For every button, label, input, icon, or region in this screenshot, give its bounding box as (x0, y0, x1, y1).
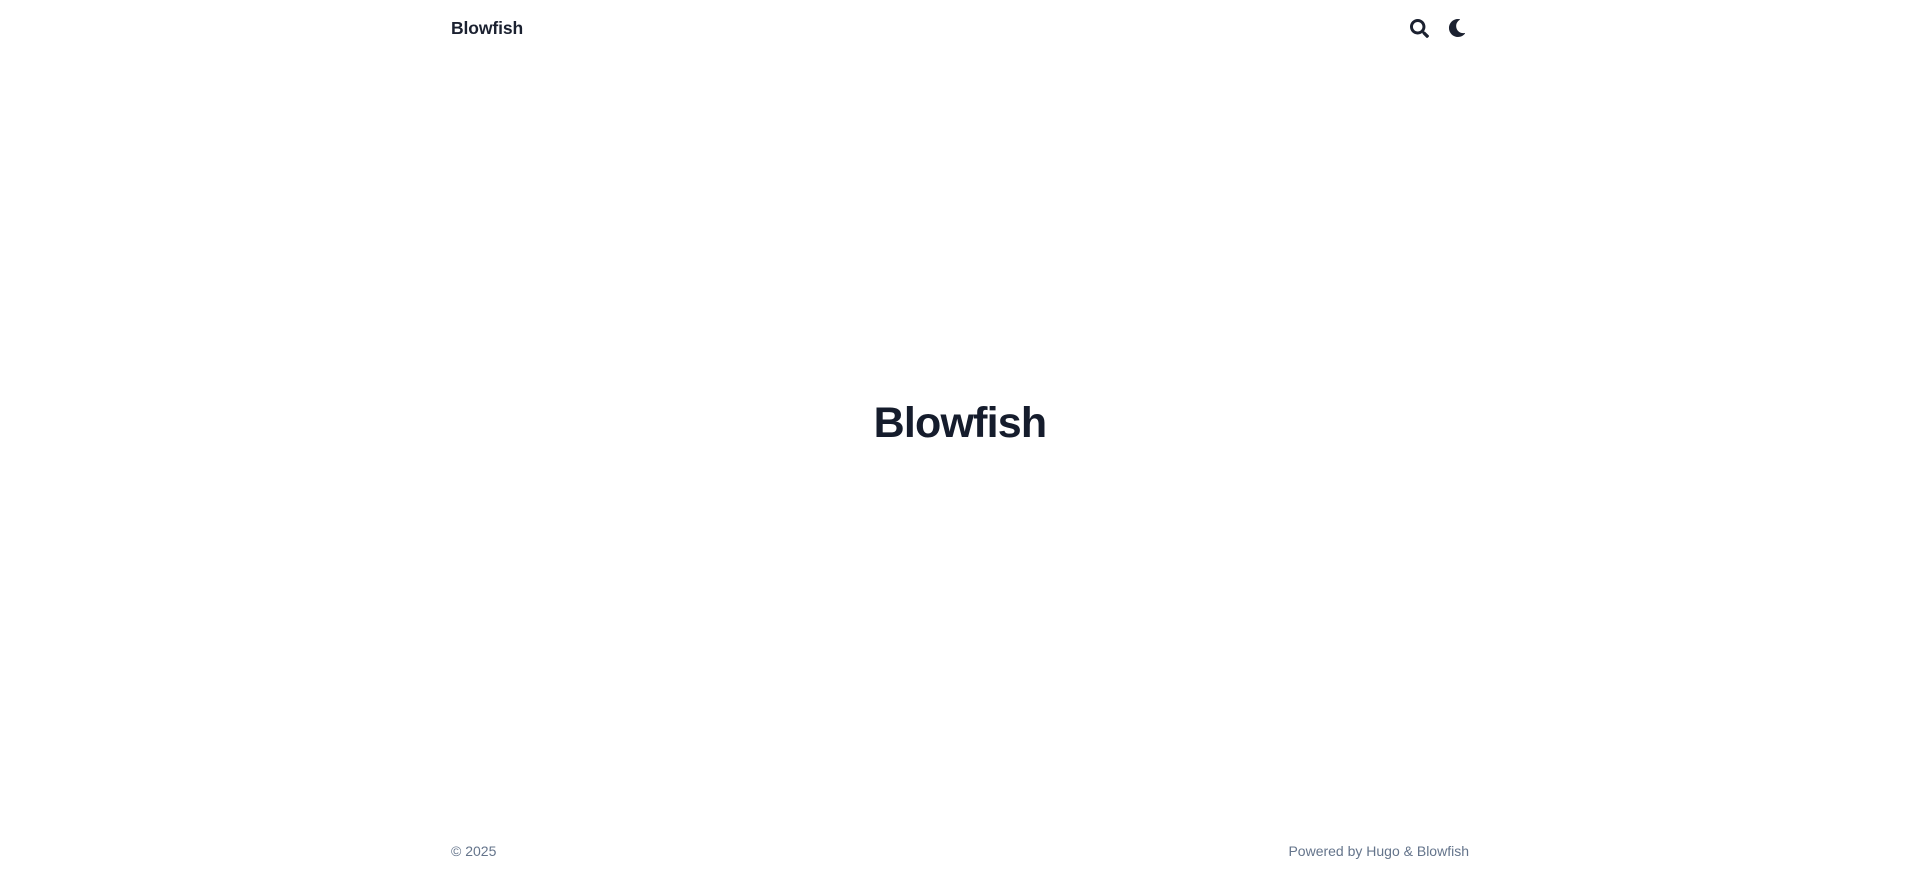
main-inner: Blowfish (451, 399, 1469, 448)
site-footer: © 2025 Powered by Hugo & Blowfish (0, 841, 1920, 892)
search-icon (1410, 19, 1429, 38)
footer-container: © 2025 Powered by Hugo & Blowfish (451, 841, 1469, 862)
site-brand-link[interactable]: Blowfish (451, 17, 523, 40)
dark-mode-toggle-button[interactable] (1445, 16, 1469, 40)
main-content: Blowfish (0, 43, 1920, 841)
page-title: Blowfish (451, 399, 1469, 448)
search-button[interactable] (1407, 16, 1431, 40)
header-inner: Blowfish (451, 13, 1469, 43)
header-actions (1407, 16, 1469, 40)
site-header: Blowfish (0, 0, 1920, 43)
footer-inner: © 2025 Powered by Hugo & Blowfish (451, 841, 1469, 862)
page-root: Blowfish (0, 0, 1920, 892)
header-container: Blowfish (451, 13, 1469, 43)
footer-powered-by[interactable]: Powered by Hugo & Blowfish (1288, 841, 1469, 862)
footer-copyright: © 2025 (451, 841, 496, 862)
moon-icon (1448, 19, 1466, 37)
